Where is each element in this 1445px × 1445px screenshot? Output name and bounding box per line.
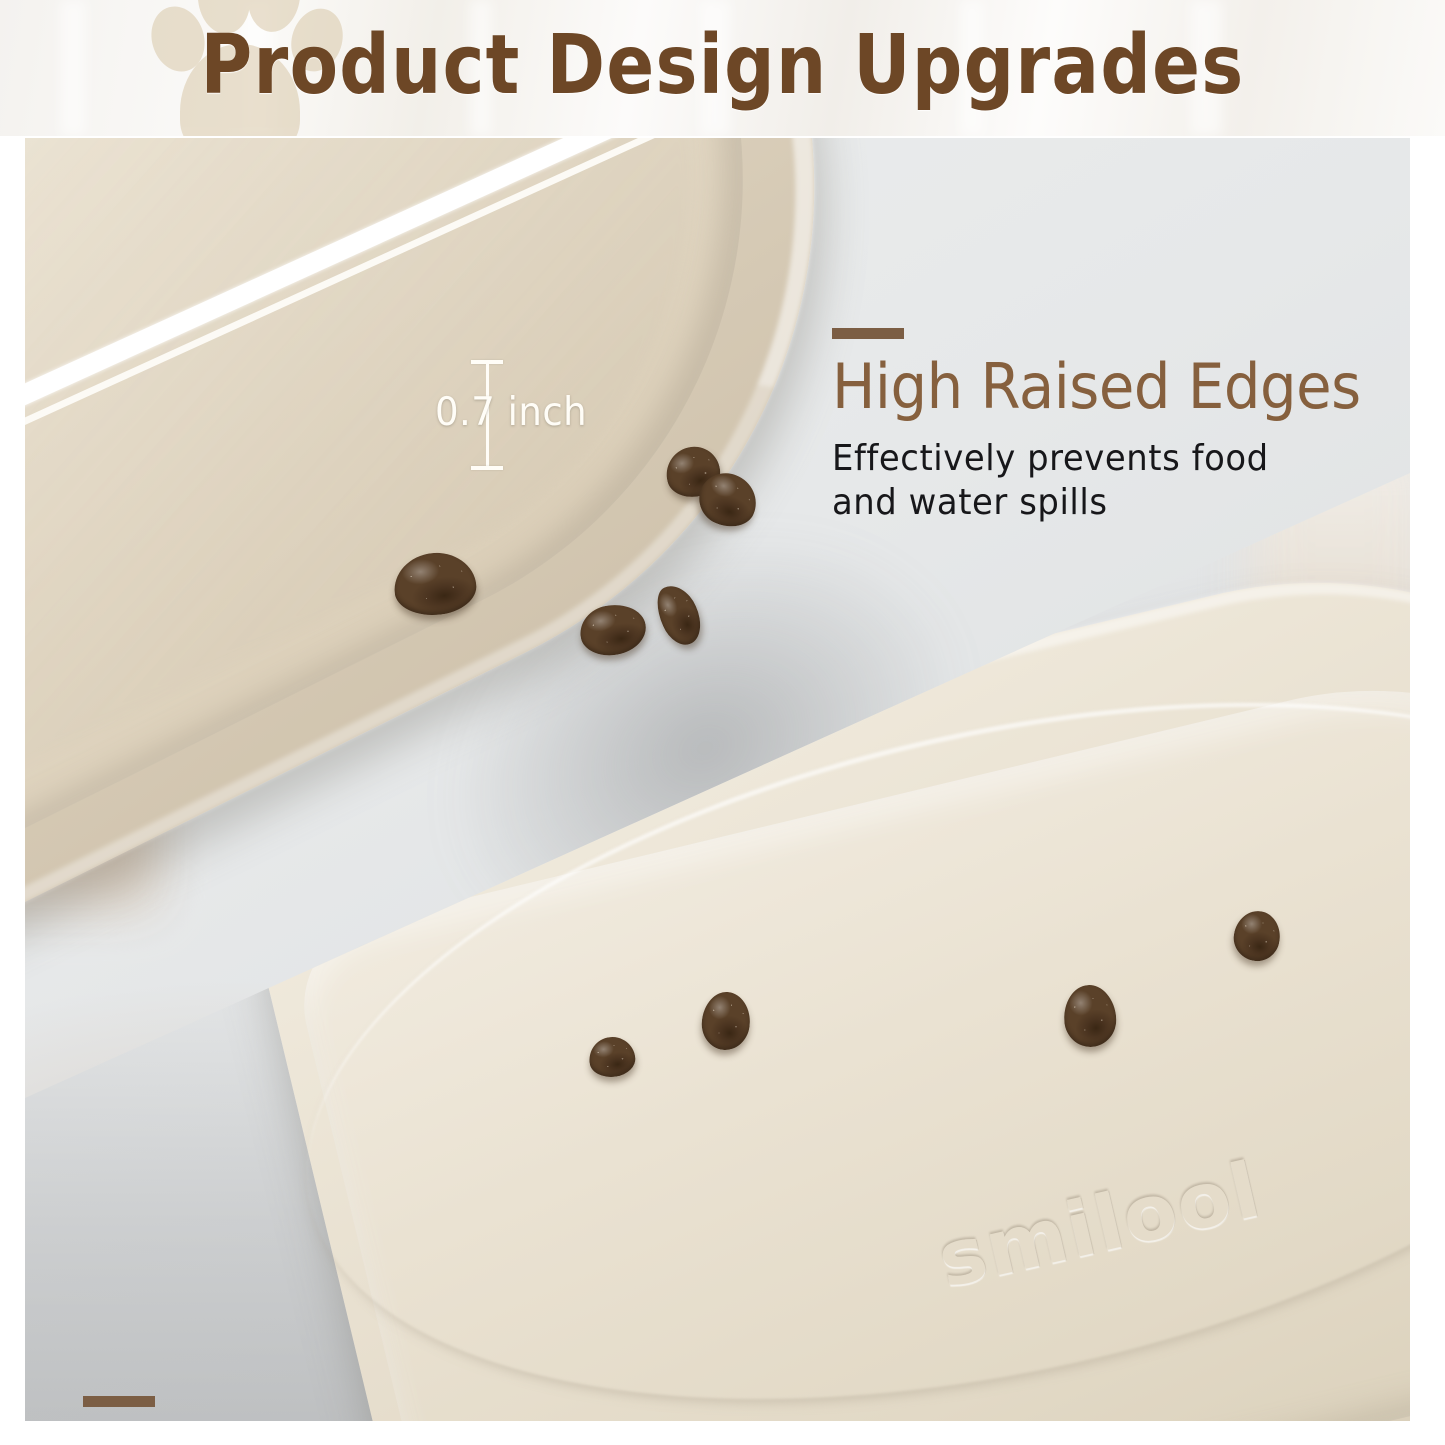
product-photo-stage: smilool 0.7 inch High Raised Edges Effec… xyxy=(25,138,1410,1421)
dimension-label: 0.7 inch xyxy=(435,390,587,435)
header-band: Product Design Upgrades xyxy=(0,0,1445,136)
callout-headline: High Raised Edges xyxy=(832,353,1361,421)
dimension-cap-bottom xyxy=(471,466,503,470)
callout-rule xyxy=(832,328,904,339)
callout-high-raised-edges: High Raised Edges Effectively prevents f… xyxy=(832,328,1400,525)
backdrop-streak xyxy=(60,0,86,136)
callout-subtext-line-2: and water spills xyxy=(832,481,1366,525)
callout-keeping-floor-clean: Keeping the floor clean Minimizes time s… xyxy=(83,1396,1113,1421)
page-title: Product Design Upgrades xyxy=(101,14,1344,118)
callout-subtext-line-1: Effectively prevents food xyxy=(832,437,1366,481)
callout-rule xyxy=(83,1396,155,1407)
